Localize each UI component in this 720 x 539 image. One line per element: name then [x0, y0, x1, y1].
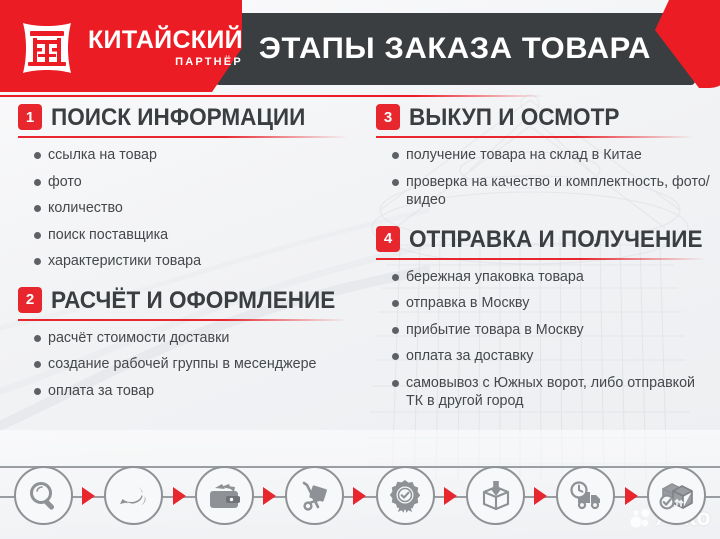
arrow-icon: [173, 487, 186, 505]
section-2: 2 РАСЧЁТ И ОФОРМЛЕНИЕ расчёт стоимости д…: [18, 287, 366, 401]
list-item: ссылка на товар: [48, 146, 366, 165]
section-4-divider: [376, 258, 706, 260]
section-3-title: ВЫКУП И ОСМОТР: [409, 107, 619, 130]
section-4: 4 ОТПРАВКА И ПОЛУЧЕНИЕ бережная упаковка…: [376, 226, 714, 411]
delivery-truck-clock-icon: [556, 466, 615, 525]
list-item: создание рабочей группы в месенджере: [48, 355, 366, 374]
arrow-icon: [625, 487, 638, 505]
arrow-icon: [444, 487, 457, 505]
list-item: оплата за товар: [48, 382, 366, 401]
section-2-divider: [18, 319, 348, 321]
section-2-list: расчёт стоимости доставки создание рабоч…: [18, 329, 366, 401]
section-2-header: 2 РАСЧЁТ И ОФОРМЛЕНИЕ: [18, 287, 366, 317]
quality-badge-icon: [376, 466, 435, 525]
arrow-icon: [353, 487, 366, 505]
brand-logo-text: КИТАЙСКИЙ ПАРТНЁР: [88, 28, 243, 68]
section-3-number: 3: [376, 104, 400, 130]
process-nodes: [0, 430, 720, 539]
list-item: поиск поставщика: [48, 226, 366, 245]
brand-logo: КИТАЙСКИЙ ПАРТНЁР: [16, 17, 243, 79]
brand-name: КИТАЙСКИЙ: [88, 28, 243, 53]
section-4-number: 4: [376, 226, 400, 252]
section-1-header: 1 ПОИСК ИНФОРМАЦИИ: [18, 104, 366, 134]
process-icon-strip: Avito: [0, 430, 720, 539]
hand-truck-icon: [285, 466, 344, 525]
left-column: 1 ПОИСК ИНФОРМАЦИИ ссылка на товар фото …: [18, 104, 366, 408]
section-2-number: 2: [18, 287, 42, 313]
list-item: характеристики товара: [48, 252, 366, 271]
list-item: проверка на качество и комплектность, фо…: [406, 173, 714, 210]
header-red-underline: [0, 95, 545, 97]
list-item: фото: [48, 173, 366, 192]
arrow-icon: [534, 487, 547, 505]
section-1-title: ПОИСК ИНФОРМАЦИИ: [51, 107, 305, 130]
right-column: 3 ВЫКУП И ОСМОТР получение товара на скл…: [376, 104, 714, 419]
section-1-number: 1: [18, 104, 42, 130]
parcel-check-icon: [647, 466, 706, 525]
list-item: отправка в Москву: [406, 294, 714, 313]
section-2-title: РАСЧЁТ И ОФОРМЛЕНИЕ: [51, 290, 335, 313]
page-title: ЭТАПЫ ЗАКАЗА ТОВАРА: [218, 13, 692, 85]
section-1-divider: [18, 136, 348, 138]
magnifier-icon: [14, 466, 73, 525]
infographic-page: ЭТАПЫ ЗАКАЗА ТОВАРА: [0, 0, 720, 539]
list-item: прибытие товара в Москву: [406, 321, 714, 340]
wallet-icon: [195, 466, 254, 525]
list-item: самовывоз с Южных ворот, либо отправкой …: [406, 374, 714, 411]
arrow-icon: [263, 487, 276, 505]
section-4-list: бережная упаковка товара отправка в Моск…: [376, 268, 714, 411]
section-3: 3 ВЫКУП И ОСМОТР получение товара на скл…: [376, 104, 714, 210]
list-item: количество: [48, 199, 366, 218]
list-item: оплата за доставку: [406, 347, 714, 366]
list-item: расчёт стоимости доставки: [48, 329, 366, 348]
list-item: получение товара на склад в Китае: [406, 146, 714, 165]
brand-tagline: ПАРТНЁР: [88, 57, 243, 68]
section-3-list: получение товара на склад в Китае провер…: [376, 146, 714, 210]
section-1: 1 ПОИСК ИНФОРМАЦИИ ссылка на товар фото …: [18, 104, 366, 271]
arrow-icon: [82, 487, 95, 505]
section-1-list: ссылка на товар фото количество поиск по…: [18, 146, 366, 271]
section-4-title: ОТПРАВКА И ПОЛУЧЕНИЕ: [409, 229, 703, 252]
chinese-gate-icon: [16, 17, 78, 79]
avito-logo-icon: [630, 507, 652, 529]
chat-bubbles-icon: [104, 466, 163, 525]
section-4-header: 4 ОТПРАВКА И ПОЛУЧЕНИЕ: [376, 226, 714, 256]
list-item: бережная упаковка товара: [406, 268, 714, 287]
section-3-header: 3 ВЫКУП И ОСМОТР: [376, 104, 714, 134]
section-3-divider: [376, 136, 694, 138]
page-header: ЭТАПЫ ЗАКАЗА ТОВАРА: [0, 0, 720, 97]
box-packing-icon: [466, 466, 525, 525]
